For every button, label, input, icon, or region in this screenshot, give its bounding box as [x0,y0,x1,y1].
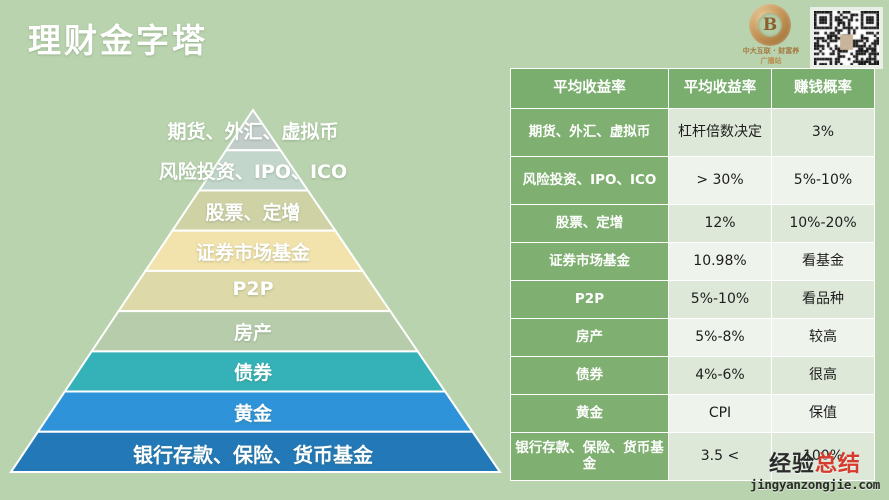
table-header-cell-0: 平均收益率 [511,69,669,109]
table-row[interactable]: 黄金CPI保值 [511,395,875,433]
pyramid-layer-label: P2P [232,278,273,300]
table-cell-probability: 100% [772,433,875,481]
table-cell-rate: 12% [669,205,772,243]
table-header-cell-2: 赚钱概率 [772,69,875,109]
table-cell-name: 房产 [511,319,669,357]
pyramid-layer-label: 期货、外汇、虚拟币 [167,117,338,144]
pyramid-layer-label: 风险投资、IPO、ICO [159,157,347,184]
table-header-cell-1: 平均收益率 [669,69,772,109]
table-cell-name: 债券 [511,357,669,395]
table-cell-rate: CPI [669,395,772,433]
table-row[interactable]: 风险投资、IPO、ICO> 30%5%-10% [511,157,875,205]
table-cell-name: 期货、外汇、虚拟币 [511,109,669,157]
table-cell-rate: 5%-10% [669,281,772,319]
table-row[interactable]: P2P5%-10%看品种 [511,281,875,319]
brand-logo: B 中大互联 · 财富养 广播站 [735,4,807,68]
table-row[interactable]: 债券4%-6%很高 [511,357,875,395]
page-title: 理财金字塔 [28,14,208,62]
qr-code-icon[interactable] [810,7,883,69]
table-header-row: 平均收益率 平均收益率 赚钱概率 [511,69,875,109]
pyramid-layer-label: 黄金 [234,399,272,426]
table-row[interactable]: 房产5%-8%较高 [511,319,875,357]
table-row[interactable]: 期货、外汇、虚拟币杠杆倍数决定3% [511,109,875,157]
pyramid-layer-label: 银行存款、保险、货币基金 [133,439,373,468]
brand-circle-icon: B [749,4,791,46]
pyramid-layer-label: 房产 [234,318,272,345]
table-cell-probability: 5%-10% [772,157,875,205]
brand-glyph: B [749,4,791,46]
brand-line-2: 广播站 [735,56,807,66]
table-cell-probability: 很高 [772,357,875,395]
table-cell-name: P2P [511,281,669,319]
table-cell-rate: 杠杆倍数决定 [669,109,772,157]
pyramid-layer-label: 证券市场基金 [196,238,310,265]
table-row[interactable]: 股票、定增12%10%-20% [511,205,875,243]
table-cell-name: 股票、定增 [511,205,669,243]
table-row[interactable]: 证券市场基金10.98%看基金 [511,243,875,281]
returns-table-element: 平均收益率 平均收益率 赚钱概率 期货、外汇、虚拟币杠杆倍数决定3%风险投资、I… [510,68,875,481]
table-cell-probability: 看品种 [772,281,875,319]
pyramid-chart: 期货、外汇、虚拟币风险投资、IPO、ICO股票、定增证券市场基金P2P房产债券黄… [0,100,512,480]
table-cell-name: 黄金 [511,395,669,433]
pyramid-layer-label: 债券 [234,358,272,385]
table-row[interactable]: 银行存款、保险、货币基金3.5 <100% [511,433,875,481]
table-cell-name: 证券市场基金 [511,243,669,281]
table-cell-name: 银行存款、保险、货币基金 [511,433,669,481]
table-cell-probability: 较高 [772,319,875,357]
table-cell-rate: 3.5 < [669,433,772,481]
table-cell-rate: 5%-8% [669,319,772,357]
brand-line-1: 中大互联 · 财富养 [735,46,807,56]
table-cell-probability: 看基金 [772,243,875,281]
table-cell-probability: 3% [772,109,875,157]
table-cell-rate: 4%-6% [669,357,772,395]
table-cell-name: 风险投资、IPO、ICO [511,157,669,205]
table-head: 平均收益率 平均收益率 赚钱概率 [511,69,875,109]
pyramid-layer-label: 股票、定增 [205,198,300,225]
table-cell-rate: > 30% [669,157,772,205]
qr-code-canvas [814,11,879,65]
slide-canvas: 理财金字塔 B 中大互联 · 财富养 广播站 期货、外汇、虚拟币风险投资、IPO… [0,0,889,500]
table-cell-probability: 保值 [772,395,875,433]
table-body: 期货、外汇、虚拟币杠杆倍数决定3%风险投资、IPO、ICO> 30%5%-10%… [511,109,875,481]
table-cell-rate: 10.98% [669,243,772,281]
table-cell-probability: 10%-20% [772,205,875,243]
returns-table: 平均收益率 平均收益率 赚钱概率 期货、外汇、虚拟币杠杆倍数决定3%风险投资、I… [510,68,874,481]
